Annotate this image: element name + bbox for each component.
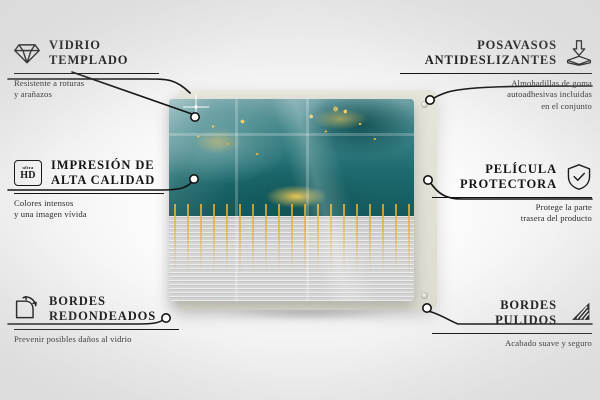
polished-edge-icon <box>566 300 592 326</box>
feature-description: Prevenir posibles daños al vidrio <box>14 334 179 346</box>
feature-header: PELÍCULA PROTECTORA <box>432 162 592 193</box>
feature-header: BORDES PULIDOS <box>432 298 592 329</box>
title-line-2: ALTA CALIDAD <box>51 173 155 188</box>
feature-impresion-alta-calidad: ultra HD IMPRESIÓN DE ALTA CALIDAD Color… <box>14 158 164 221</box>
feature-title: PELÍCULA PROTECTORA <box>460 162 557 193</box>
feature-title: VIDRIO TEMPLADO <box>49 38 128 69</box>
badge-text-main: HD <box>20 171 36 181</box>
feature-rule <box>14 329 179 330</box>
feature-vidrio-templado: VIDRIO TEMPLADO Resistente a roturas y a… <box>14 38 159 101</box>
mounting-screw-bottom-right <box>421 292 428 299</box>
title-line-1: POSAVASOS <box>425 38 557 53</box>
feature-title: BORDES PULIDOS <box>495 298 557 329</box>
press-pad-icon <box>566 40 592 66</box>
title-line-2: TEMPLADO <box>49 53 128 68</box>
feature-description: Almohadillas de goma autoadhesivas inclu… <box>400 78 592 114</box>
feature-description: Protege la parte trasera del producto <box>432 202 592 226</box>
feature-bordes-pulidos: BORDES PULIDOS Acabado suave y seguro <box>432 298 592 349</box>
title-line-2: PROTECTORA <box>460 177 557 192</box>
feature-posavasos-antideslizantes: POSAVASOS ANTIDESLIZANTES Almohadillas d… <box>400 38 592 113</box>
ultra-hd-badge-icon: ultra HD <box>14 160 42 186</box>
desc-line-3: en el conjunto <box>400 101 592 113</box>
desc-line-1: Resistente a roturas <box>14 78 159 90</box>
title-line-1: PELÍCULA <box>460 162 557 177</box>
shield-check-icon <box>566 164 592 190</box>
feature-pelicula-protectora: PELÍCULA PROTECTORA Protege la parte tra… <box>432 162 592 225</box>
feature-rule <box>432 333 592 334</box>
feature-rule <box>432 197 592 198</box>
feature-title: IMPRESIÓN DE ALTA CALIDAD <box>51 158 155 189</box>
desc-line-1: Prevenir posibles daños al vidrio <box>14 334 179 346</box>
desc-line-2: y arañazos <box>14 89 159 101</box>
feature-header: POSAVASOS ANTIDESLIZANTES <box>400 38 592 69</box>
feature-header: VIDRIO TEMPLADO <box>14 38 159 69</box>
rounded-corner-icon <box>14 296 40 322</box>
desc-line-2: trasera del producto <box>432 213 592 225</box>
glass-reflection <box>169 99 414 301</box>
feature-bordes-redondeados: BORDES REDONDEADOS Prevenir posibles dañ… <box>14 294 179 345</box>
feature-description: Resistente a roturas y arañazos <box>14 78 159 102</box>
title-line-1: BORDES <box>49 294 156 309</box>
product-image <box>169 90 437 310</box>
desc-line-1: Protege la parte <box>432 202 592 214</box>
feature-header: BORDES REDONDEADOS <box>14 294 179 325</box>
title-line-1: BORDES <box>495 298 557 313</box>
sparkle-icon <box>183 94 209 120</box>
desc-line-1: Acabado suave y seguro <box>432 338 592 350</box>
feature-rule <box>14 73 159 74</box>
diamond-icon <box>14 40 40 66</box>
desc-line-2: autoadhesivas incluidas <box>400 89 592 101</box>
title-line-2: PULIDOS <box>495 313 557 328</box>
title-line-1: IMPRESIÓN DE <box>51 158 155 173</box>
feature-description: Colores intensos y una imagen vívida <box>14 198 164 222</box>
title-line-2: ANTIDESLIZANTES <box>425 53 557 68</box>
desc-line-1: Colores intensos <box>14 198 164 210</box>
feature-header: ultra HD IMPRESIÓN DE ALTA CALIDAD <box>14 158 164 189</box>
feature-rule <box>400 73 592 74</box>
feature-description: Acabado suave y seguro <box>432 338 592 350</box>
feature-rule <box>14 193 164 194</box>
title-line-1: VIDRIO <box>49 38 128 53</box>
feature-title: BORDES REDONDEADOS <box>49 294 156 325</box>
desc-line-2: y una imagen vívida <box>14 209 164 221</box>
title-line-2: REDONDEADOS <box>49 309 156 324</box>
glass-panel <box>169 99 414 301</box>
infographic-canvas: VIDRIO TEMPLADO Resistente a roturas y a… <box>0 0 600 400</box>
feature-title: POSAVASOS ANTIDESLIZANTES <box>425 38 557 69</box>
desc-line-1: Almohadillas de goma <box>400 78 592 90</box>
